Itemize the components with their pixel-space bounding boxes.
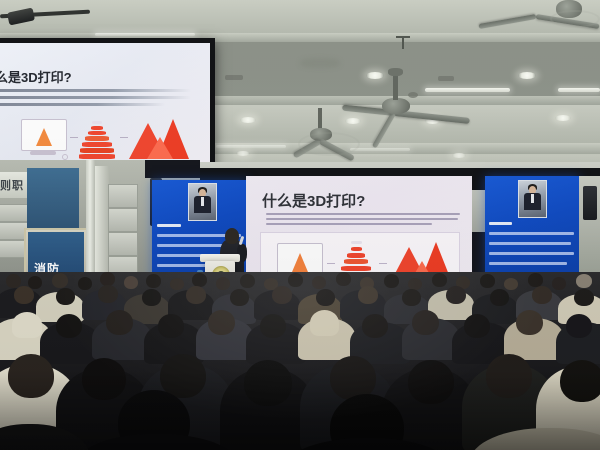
overhead-slide-title: 么是3D打印?	[0, 67, 72, 86]
overhead-3d-print-diagram	[21, 119, 183, 161]
diagram-model-pyramid	[36, 128, 52, 146]
text-line	[266, 218, 458, 220]
print-head	[92, 121, 102, 124]
fan-canopy	[388, 68, 403, 76]
layer	[341, 266, 371, 271]
text-line	[0, 103, 165, 106]
strip-light-5	[216, 145, 286, 148]
diagram-sliced-pyramid	[79, 121, 115, 159]
layer	[347, 253, 365, 258]
fan-motion-blur	[298, 132, 360, 156]
fan-rod	[318, 108, 322, 130]
ceiling-upper-slab	[0, 0, 600, 34]
led-text-line	[489, 262, 567, 265]
shelf-box	[108, 208, 138, 232]
led-right-text-block	[489, 222, 577, 275]
crowd-lighting-vignette	[0, 272, 600, 450]
seated-crowd	[0, 272, 600, 450]
portrait-shirt	[531, 194, 534, 203]
layer	[79, 154, 115, 159]
downlight-6	[555, 115, 571, 121]
lecture-hall-photo: 么是3D打印?	[0, 0, 600, 450]
strip-light-1	[95, 33, 195, 36]
shelf-box	[108, 232, 138, 256]
fan-motion-blur	[550, 10, 600, 28]
strip-light-4	[558, 88, 600, 92]
diagram-monitor	[21, 119, 67, 151]
layer	[344, 259, 368, 264]
print-head	[351, 241, 362, 244]
text-line	[266, 223, 432, 225]
downlight-3	[240, 117, 256, 123]
speaker-portrait-left	[188, 183, 217, 221]
ceiling-vent-1	[225, 75, 243, 80]
diagram-arrow-2	[120, 137, 128, 138]
blue-wall-panel	[27, 168, 79, 230]
led-panel-right[interactable]	[485, 176, 579, 280]
layer	[351, 247, 362, 251]
diagram-solid-pyramid-3	[147, 137, 173, 159]
diagram-model-pyramid	[292, 253, 308, 272]
ceiling-fan-top-right	[520, 0, 600, 42]
led-text-line	[489, 232, 574, 235]
downlight-8	[452, 153, 466, 158]
text-line	[0, 96, 191, 99]
diagram-arrow-1	[327, 263, 335, 264]
diagram-arrow-1	[70, 137, 78, 138]
ceiling-drop-bracket	[396, 36, 410, 38]
led-header-line	[157, 224, 181, 227]
ceiling-fan-lower	[300, 108, 420, 166]
portrait-shirt	[201, 197, 204, 206]
fan-rod	[393, 72, 398, 100]
diagram-monitor-base	[30, 151, 56, 155]
led-header-line	[489, 222, 512, 225]
wall-dark-trim	[145, 160, 200, 178]
overhead-wall-monitor[interactable]: 么是3D打印?	[0, 38, 215, 170]
led-text-line	[489, 252, 574, 255]
main-slide-title: 什么是3D打印?	[262, 190, 365, 211]
ceiling-drop-rod	[402, 37, 404, 49]
wall-sign-text: 则职	[0, 177, 24, 193]
shelf-box	[108, 184, 138, 208]
layer	[80, 148, 114, 153]
ceiling-stain	[300, 58, 340, 68]
text-line	[0, 89, 191, 92]
downlight-7	[236, 151, 250, 156]
layer	[85, 136, 109, 141]
speaker-portrait-right	[518, 180, 547, 218]
text-line	[266, 213, 460, 215]
presenter-head	[225, 228, 239, 244]
overhead-monitor-slide: 么是3D打印?	[0, 43, 210, 165]
overhead-slide-body	[0, 89, 195, 110]
layer	[91, 126, 103, 130]
right-wall-speaker	[583, 186, 597, 220]
led-text-line	[489, 242, 571, 245]
layer	[88, 131, 106, 135]
main-slide-body	[266, 213, 462, 228]
diagram-arrow-2	[379, 263, 387, 264]
layer	[82, 142, 112, 147]
